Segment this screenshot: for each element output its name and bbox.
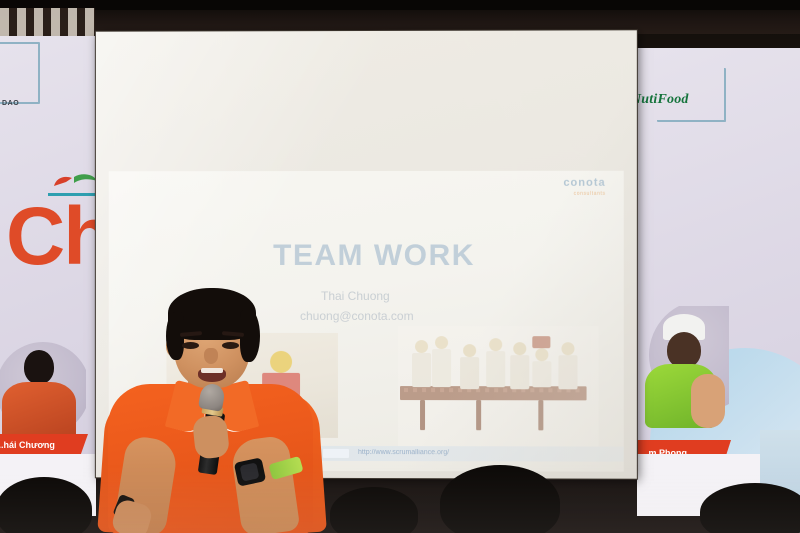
speaker-nose (204, 348, 218, 364)
person-torso (2, 382, 76, 442)
minifig-body (532, 361, 551, 387)
beam-support (476, 400, 481, 430)
minifig-head (535, 348, 548, 361)
minifig-body (412, 353, 431, 387)
floor-gradient (0, 463, 800, 533)
speaker-hand-holding-microphone (192, 414, 230, 459)
beam-support (420, 400, 425, 430)
person-head (667, 332, 701, 368)
minifig-head (463, 344, 476, 357)
person-arm (691, 374, 725, 428)
slide-footer-url-right: http://www.scrumalliance.org/ (358, 449, 449, 456)
slide-logo-name: conota (563, 177, 605, 189)
minifig-head (415, 340, 428, 353)
minifig-body (486, 351, 505, 387)
banner-right-person-photo (637, 306, 729, 432)
person-head (24, 350, 54, 384)
slide-title: TEAM WORK (273, 239, 475, 273)
banner-left: DAO Ch ...hái Chương Founder, CEO Agile … (0, 36, 96, 516)
banner-left-frame (0, 42, 40, 104)
speaker-eye-right (222, 342, 239, 349)
minifig-head (435, 336, 448, 349)
lego-beam-studs (404, 388, 583, 392)
presentation-photo: DAO Ch ...hái Chương Founder, CEO Agile … (0, 0, 800, 533)
minifig-body (460, 357, 479, 389)
minifig-head (489, 338, 502, 351)
beam-support (538, 400, 543, 430)
slide-image-right (398, 326, 599, 446)
banner-left-headline: Ch (6, 196, 96, 278)
minifig-head (513, 342, 526, 355)
minifig-head (561, 342, 574, 355)
slide-logo: conota consultants (563, 177, 605, 197)
ceiling-beam (0, 0, 800, 10)
minifig-body (510, 355, 529, 389)
minifig-body (558, 355, 577, 389)
leaf-swoosh-icon (52, 172, 96, 190)
slide-logo-tagline: consultants (563, 191, 605, 197)
banner-left-kicker: DAO (2, 100, 19, 107)
banner-left-person-name: ...hái Chương (0, 440, 55, 450)
speaker-teeth (201, 368, 223, 373)
speaker-eye-left (182, 342, 199, 349)
minifig-body (432, 349, 451, 387)
banner-right-brand: NutiFood (637, 92, 689, 108)
minifig-flag (532, 336, 550, 348)
